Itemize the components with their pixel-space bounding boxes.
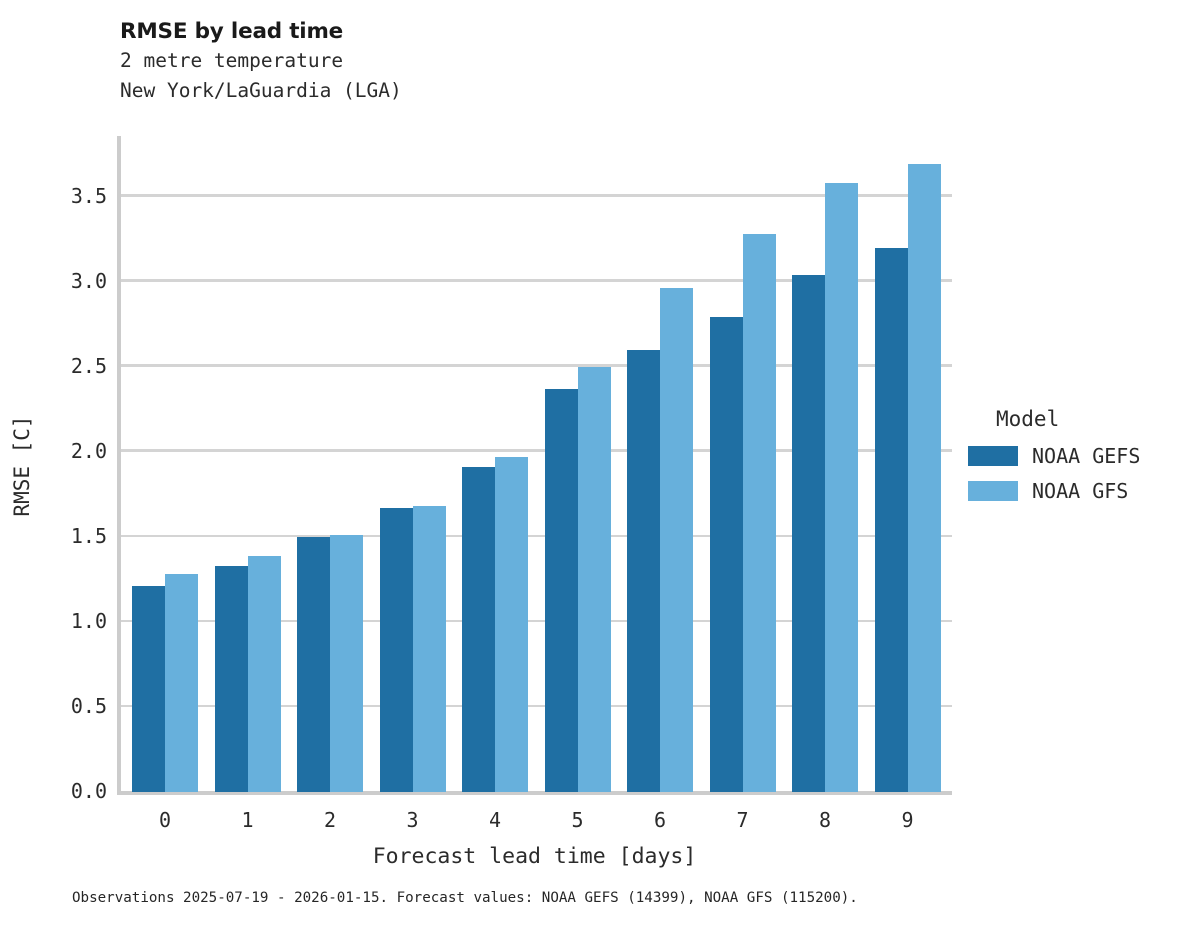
- x-tick-label: 4: [465, 808, 525, 832]
- legend-item[interactable]: NOAA GEFS: [968, 441, 1140, 471]
- x-tick-label: 0: [135, 808, 195, 832]
- chart-page: RMSE by lead time 2 metre temperature Ne…: [0, 0, 1188, 928]
- bars-layer: [117, 136, 952, 795]
- chart-subtitle-variable: 2 metre temperature: [120, 46, 920, 76]
- plot-area: 0.00.51.01.52.02.53.03.5 0123456789: [117, 136, 952, 795]
- bar: [875, 248, 908, 792]
- legend-item[interactable]: NOAA GFS: [968, 476, 1140, 506]
- bar: [792, 275, 825, 792]
- chart-subtitle-station: New York/LaGuardia (LGA): [120, 76, 920, 106]
- bar: [627, 350, 660, 792]
- legend-entries: NOAA GEFSNOAA GFS: [968, 441, 1140, 506]
- bar: [413, 506, 446, 792]
- x-tick-label: 1: [218, 808, 278, 832]
- bar: [132, 586, 165, 792]
- y-tick-label: 0.0: [25, 779, 107, 803]
- x-axis-label: Forecast lead time [days]: [117, 844, 952, 869]
- legend: Model NOAA GEFSNOAA GFS: [968, 407, 1140, 511]
- bar: [578, 367, 611, 792]
- bar: [330, 535, 363, 792]
- bar: [743, 234, 776, 792]
- legend-swatch-icon: [968, 481, 1018, 501]
- x-tick-label: 6: [630, 808, 690, 832]
- x-tick-label: 8: [795, 808, 855, 832]
- y-tick-label: 2.0: [25, 439, 107, 463]
- x-tick-label: 3: [383, 808, 443, 832]
- bar: [545, 389, 578, 792]
- x-tick-label: 9: [878, 808, 938, 832]
- bar: [165, 574, 198, 792]
- chart-title: RMSE by lead time: [120, 18, 920, 46]
- bar: [908, 164, 941, 792]
- bar: [462, 467, 495, 792]
- bar: [710, 317, 743, 792]
- legend-swatch-icon: [968, 446, 1018, 466]
- y-tick-label: 1.0: [25, 609, 107, 633]
- title-block: RMSE by lead time 2 metre temperature Ne…: [120, 18, 920, 106]
- y-tick-label: 1.5: [25, 524, 107, 548]
- x-tick-label: 2: [300, 808, 360, 832]
- y-tick-label: 2.5: [25, 354, 107, 378]
- bar: [825, 183, 858, 792]
- bar: [660, 288, 693, 792]
- legend-title: Model: [996, 407, 1140, 431]
- x-tick-label: 5: [548, 808, 608, 832]
- y-tick-label: 0.5: [25, 694, 107, 718]
- footer-note: Observations 2025-07-19 - 2026-01-15. Fo…: [72, 890, 858, 906]
- bar: [215, 566, 248, 792]
- bar: [248, 556, 281, 792]
- legend-item-label: NOAA GEFS: [1032, 444, 1140, 468]
- bar: [495, 457, 528, 792]
- x-tick-label: 7: [713, 808, 773, 832]
- legend-item-label: NOAA GFS: [1032, 479, 1128, 503]
- bar: [380, 508, 413, 792]
- y-tick-label: 3.5: [25, 184, 107, 208]
- bar: [297, 537, 330, 792]
- y-axis-label: RMSE [C]: [10, 415, 34, 516]
- y-tick-label: 3.0: [25, 269, 107, 293]
